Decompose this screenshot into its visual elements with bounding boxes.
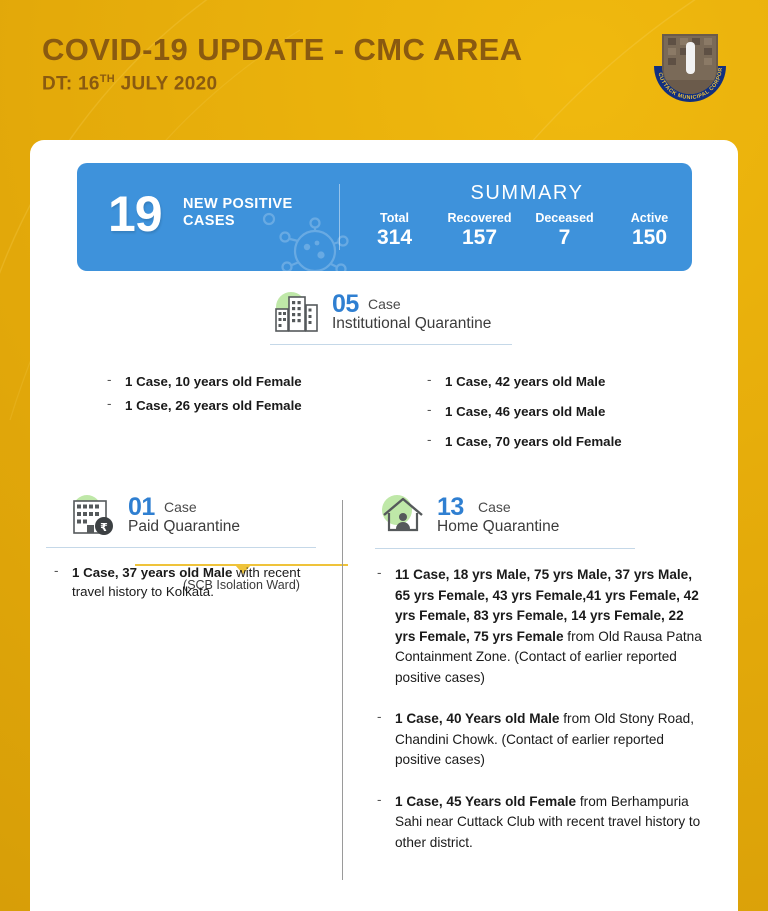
- home-list: 11 Case, 18 yrs Male, 75 yrs Male, 37 yr…: [375, 565, 705, 874]
- case-text-bold: 1 Case, 26 years old Female: [125, 398, 302, 413]
- stat-deceased: Deceased 7: [522, 211, 607, 250]
- stat-label: Total: [352, 211, 437, 225]
- institutional-title: Institutional Quarantine: [332, 315, 491, 333]
- page-title: COVID-19 UPDATE - CMC AREA: [42, 32, 523, 68]
- case-text: 1 Case, 42 years old Male: [445, 374, 605, 389]
- institutional-right-list: 1 Case, 42 years old Male 1 Case, 46 yea…: [425, 372, 705, 456]
- stat-label: Active: [607, 211, 692, 225]
- case-text-bold: 1 Case, 42 years old Male: [445, 374, 605, 389]
- case-text-bold: 1 Case, 46 years old Male: [445, 404, 605, 419]
- new-cases-label: NEW POSITIVE CASES: [183, 196, 293, 230]
- paid-list: 1 Case, 37 years old Male with recent tr…: [52, 563, 317, 606]
- page-header: COVID-19 UPDATE - CMC AREA DT: 16TH JULY…: [0, 0, 768, 140]
- date-rest: JULY 2020: [115, 73, 217, 94]
- case-text: 11 Case, 18 yrs Male, 75 yrs Male, 37 yr…: [395, 567, 702, 685]
- case-text-bold: 1 Case, 70 years old Female: [445, 434, 622, 449]
- hotel-rupee-icon: ₹: [66, 493, 120, 539]
- case-text: 1 Case, 10 years old Female: [125, 374, 302, 389]
- date-prefix: DT: 16: [42, 73, 100, 94]
- case-text: 1 Case, 26 years old Female: [125, 398, 302, 413]
- list-item: 1 Case, 40 Years old Male from Old Stony…: [375, 709, 705, 771]
- banner-divider: [339, 184, 340, 250]
- list-item: 1 Case, 70 years old Female: [425, 432, 705, 451]
- list-item: 1 Case, 42 years old Male: [425, 372, 705, 391]
- new-cases-label-line1: NEW POSITIVE: [183, 196, 293, 213]
- stat-recovered: Recovered 157: [437, 211, 522, 250]
- stat-label: Deceased: [522, 211, 607, 225]
- home-person-icon: [375, 490, 437, 540]
- paid-underline: [46, 547, 316, 548]
- list-item: 1 Case, 37 years old Male with recent tr…: [52, 563, 317, 601]
- stat-value: 7: [522, 226, 607, 250]
- home-title: Home Quarantine: [437, 518, 559, 536]
- paid-case-word: Case: [164, 499, 197, 515]
- rupee-glyph: ₹: [100, 521, 108, 534]
- stat-value: 150: [607, 226, 692, 250]
- institutional-underline: [270, 344, 512, 345]
- date-ordinal-suffix: TH: [100, 73, 115, 85]
- stat-total: Total 314: [352, 211, 437, 250]
- institutional-left-list: 1 Case, 10 years old Female 1 Case, 26 y…: [105, 372, 335, 420]
- stat-value: 314: [352, 226, 437, 250]
- summary-banner: 19 NEW POSITIVE CASES SUMMARY Total 314 …: [77, 163, 692, 271]
- list-item: 1 Case, 10 years old Female: [105, 372, 335, 391]
- case-text: 1 Case, 37 years old Male with recent tr…: [72, 565, 300, 599]
- case-text-bold: 1 Case, 45 Years old Female: [395, 794, 576, 809]
- stat-active: Active 150: [607, 211, 692, 250]
- buildings-icon: [270, 290, 324, 336]
- summary-stats: Total 314 Recovered 157 Deceased 7 Activ…: [352, 211, 692, 250]
- case-text-bold: 1 Case, 37 years old Male: [72, 565, 232, 580]
- page-date: DT: 16TH JULY 2020: [42, 73, 217, 95]
- home-case-word: Case: [478, 499, 511, 515]
- list-item: 1 Case, 26 years old Female: [105, 396, 335, 415]
- case-text: 1 Case, 70 years old Female: [445, 434, 622, 449]
- case-text: 1 Case, 40 Years old Male from Old Stony…: [395, 711, 694, 767]
- home-underline: [375, 548, 635, 549]
- new-cases-number: 19: [108, 188, 162, 240]
- list-item: 1 Case, 45 Years old Female from Berhamp…: [375, 792, 705, 854]
- case-text: 1 Case, 45 Years old Female from Berhamp…: [395, 794, 700, 850]
- stat-label: Recovered: [437, 211, 522, 225]
- column-divider: [342, 500, 343, 880]
- content-card: 19 NEW POSITIVE CASES SUMMARY Total 314 …: [30, 140, 738, 911]
- summary-title: SUMMARY: [362, 182, 692, 205]
- case-text-bold: 1 Case, 10 years old Female: [125, 374, 302, 389]
- case-text: 1 Case, 46 years old Male: [445, 404, 605, 419]
- case-text-bold: 1 Case, 40 Years old Male: [395, 711, 560, 726]
- institutional-case-word: Case: [368, 296, 401, 312]
- list-item: 1 Case, 46 years old Male: [425, 402, 705, 421]
- stat-value: 157: [437, 226, 522, 250]
- cuttack-municipal-corporation-logo: CUTTACK MUNICIPAL CORPORATION: [642, 26, 738, 102]
- list-item: 11 Case, 18 yrs Male, 75 yrs Male, 37 yr…: [375, 565, 705, 688]
- paid-title: Paid Quarantine: [128, 518, 240, 536]
- new-cases-label-line2: CASES: [183, 213, 293, 230]
